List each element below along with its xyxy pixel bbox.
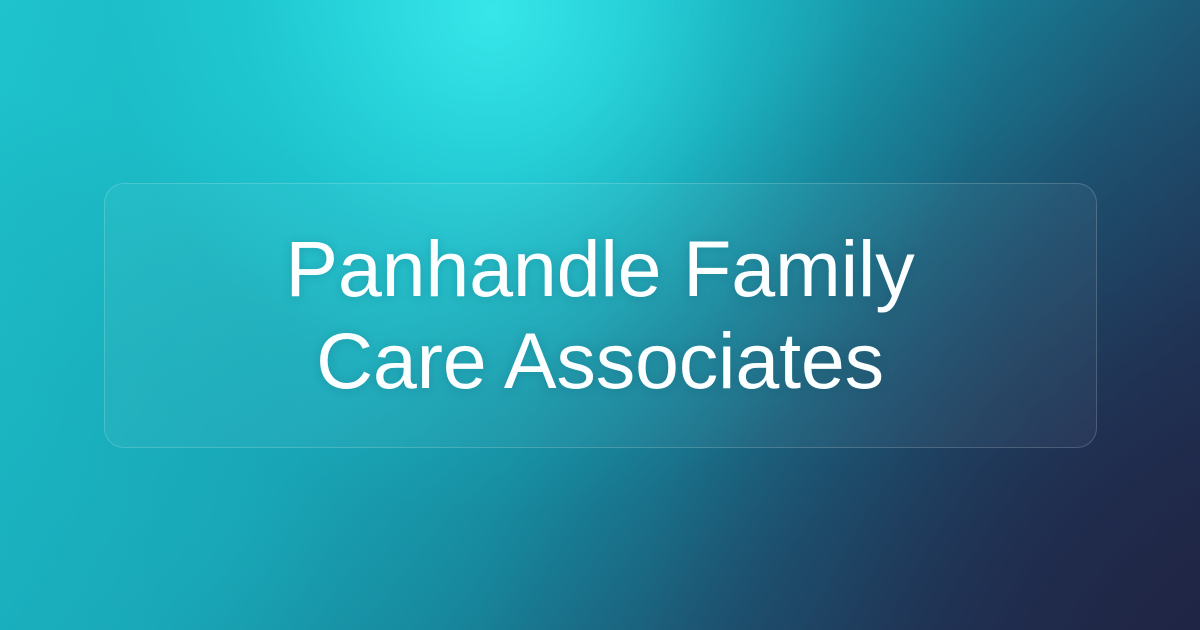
title-card: Panhandle Family Care Associates [104, 183, 1097, 448]
page-title: Panhandle Family Care Associates [220, 223, 980, 406]
og-image-canvas: Panhandle Family Care Associates [0, 0, 1200, 630]
card-layer: Panhandle Family Care Associates [0, 0, 1200, 630]
